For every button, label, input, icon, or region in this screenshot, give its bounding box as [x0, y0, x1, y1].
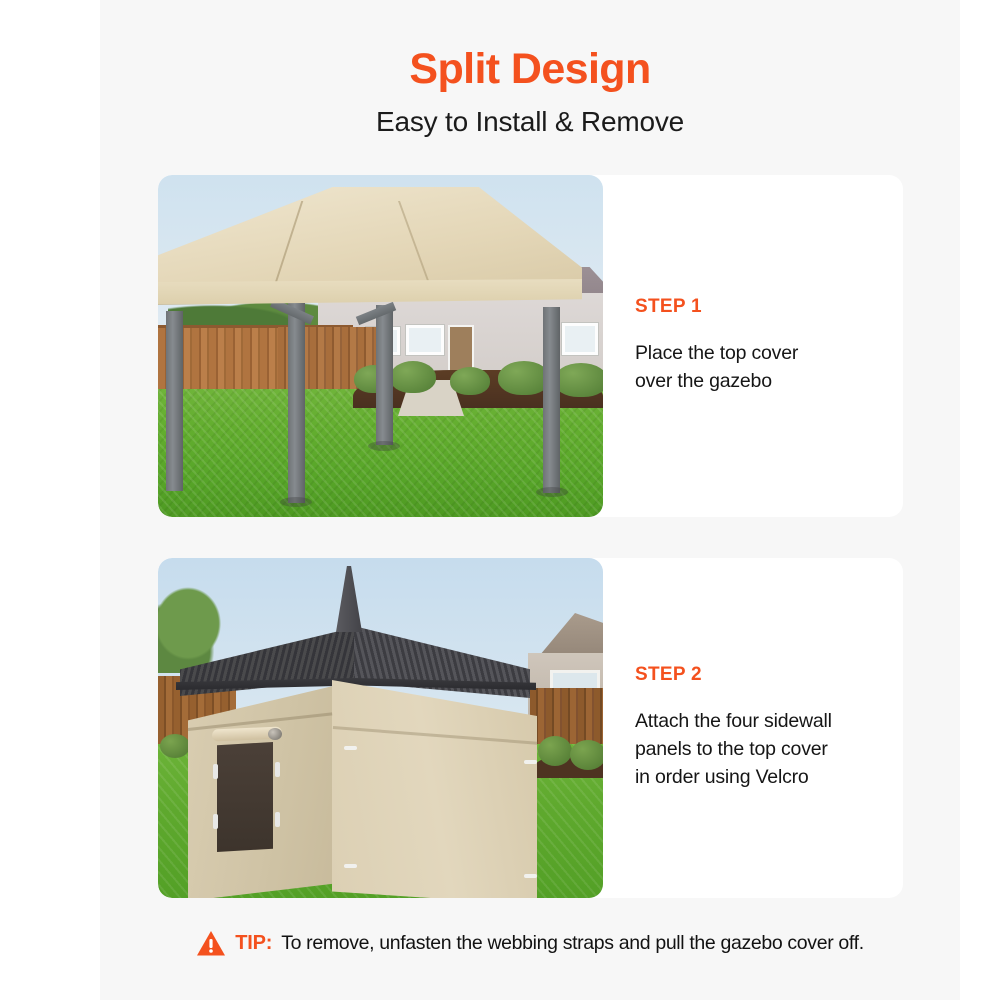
gazebo-post — [166, 311, 183, 491]
shrub — [554, 363, 603, 397]
warning-triangle-icon — [196, 930, 226, 957]
velcro-strap — [344, 746, 357, 750]
velcro-tab — [275, 762, 280, 777]
sidewall-panel-right — [332, 680, 537, 898]
shrub — [390, 361, 436, 393]
velcro-strap — [524, 874, 537, 878]
tip-text: To remove, unfasten the webbing straps a… — [281, 932, 864, 955]
shrub — [570, 740, 603, 770]
velcro-tab — [275, 812, 280, 827]
step-2-description: Attach the four sidewall panels to the t… — [635, 708, 877, 791]
step-1-description: Place the top cover over the gazebo — [635, 340, 877, 395]
velcro-strap — [344, 864, 357, 868]
infographic-page: Split Design Easy to Install & Remove — [0, 0, 1000, 1000]
tip-label: TIP: — [235, 932, 272, 955]
gazebo-post — [288, 303, 305, 503]
canopy-seam — [398, 201, 432, 289]
step-1-label: STEP 1 — [635, 296, 877, 318]
post-footing — [280, 497, 312, 507]
step-2-text-block: STEP 2 Attach the four sidewall panels t… — [603, 558, 903, 898]
post-footing — [536, 487, 568, 497]
mesh-window-panel — [217, 742, 273, 852]
house-window — [406, 325, 444, 355]
gazebo-post — [376, 305, 393, 445]
header: Split Design Easy to Install & Remove — [100, 45, 960, 138]
house-window — [562, 323, 598, 355]
step-card-2: STEP 2 Attach the four sidewall panels t… — [158, 558, 903, 898]
step-2-label: STEP 2 — [635, 664, 877, 686]
shrub — [160, 734, 190, 758]
step-1-text-block: STEP 1 Place the top cover over the gaze… — [603, 175, 903, 517]
step-2-photo — [158, 558, 603, 898]
velcro-tab — [213, 814, 218, 829]
velcro-strap — [524, 760, 537, 764]
step-1-photo — [158, 175, 603, 517]
shrub — [538, 736, 572, 766]
shrub — [450, 367, 490, 395]
content-panel: Split Design Easy to Install & Remove — [100, 0, 960, 1000]
canopy-seam — [273, 201, 304, 289]
tip-footer: TIP: To remove, unfasten the webbing str… — [100, 930, 960, 957]
page-title: Split Design — [100, 45, 960, 94]
step-card-1: STEP 1 Place the top cover over the gaze… — [158, 175, 903, 517]
curtain-end-cap — [268, 728, 282, 740]
page-subtitle: Easy to Install & Remove — [100, 106, 960, 138]
post-footing — [368, 441, 400, 451]
gazebo-post — [543, 307, 560, 493]
velcro-tab — [213, 764, 218, 779]
